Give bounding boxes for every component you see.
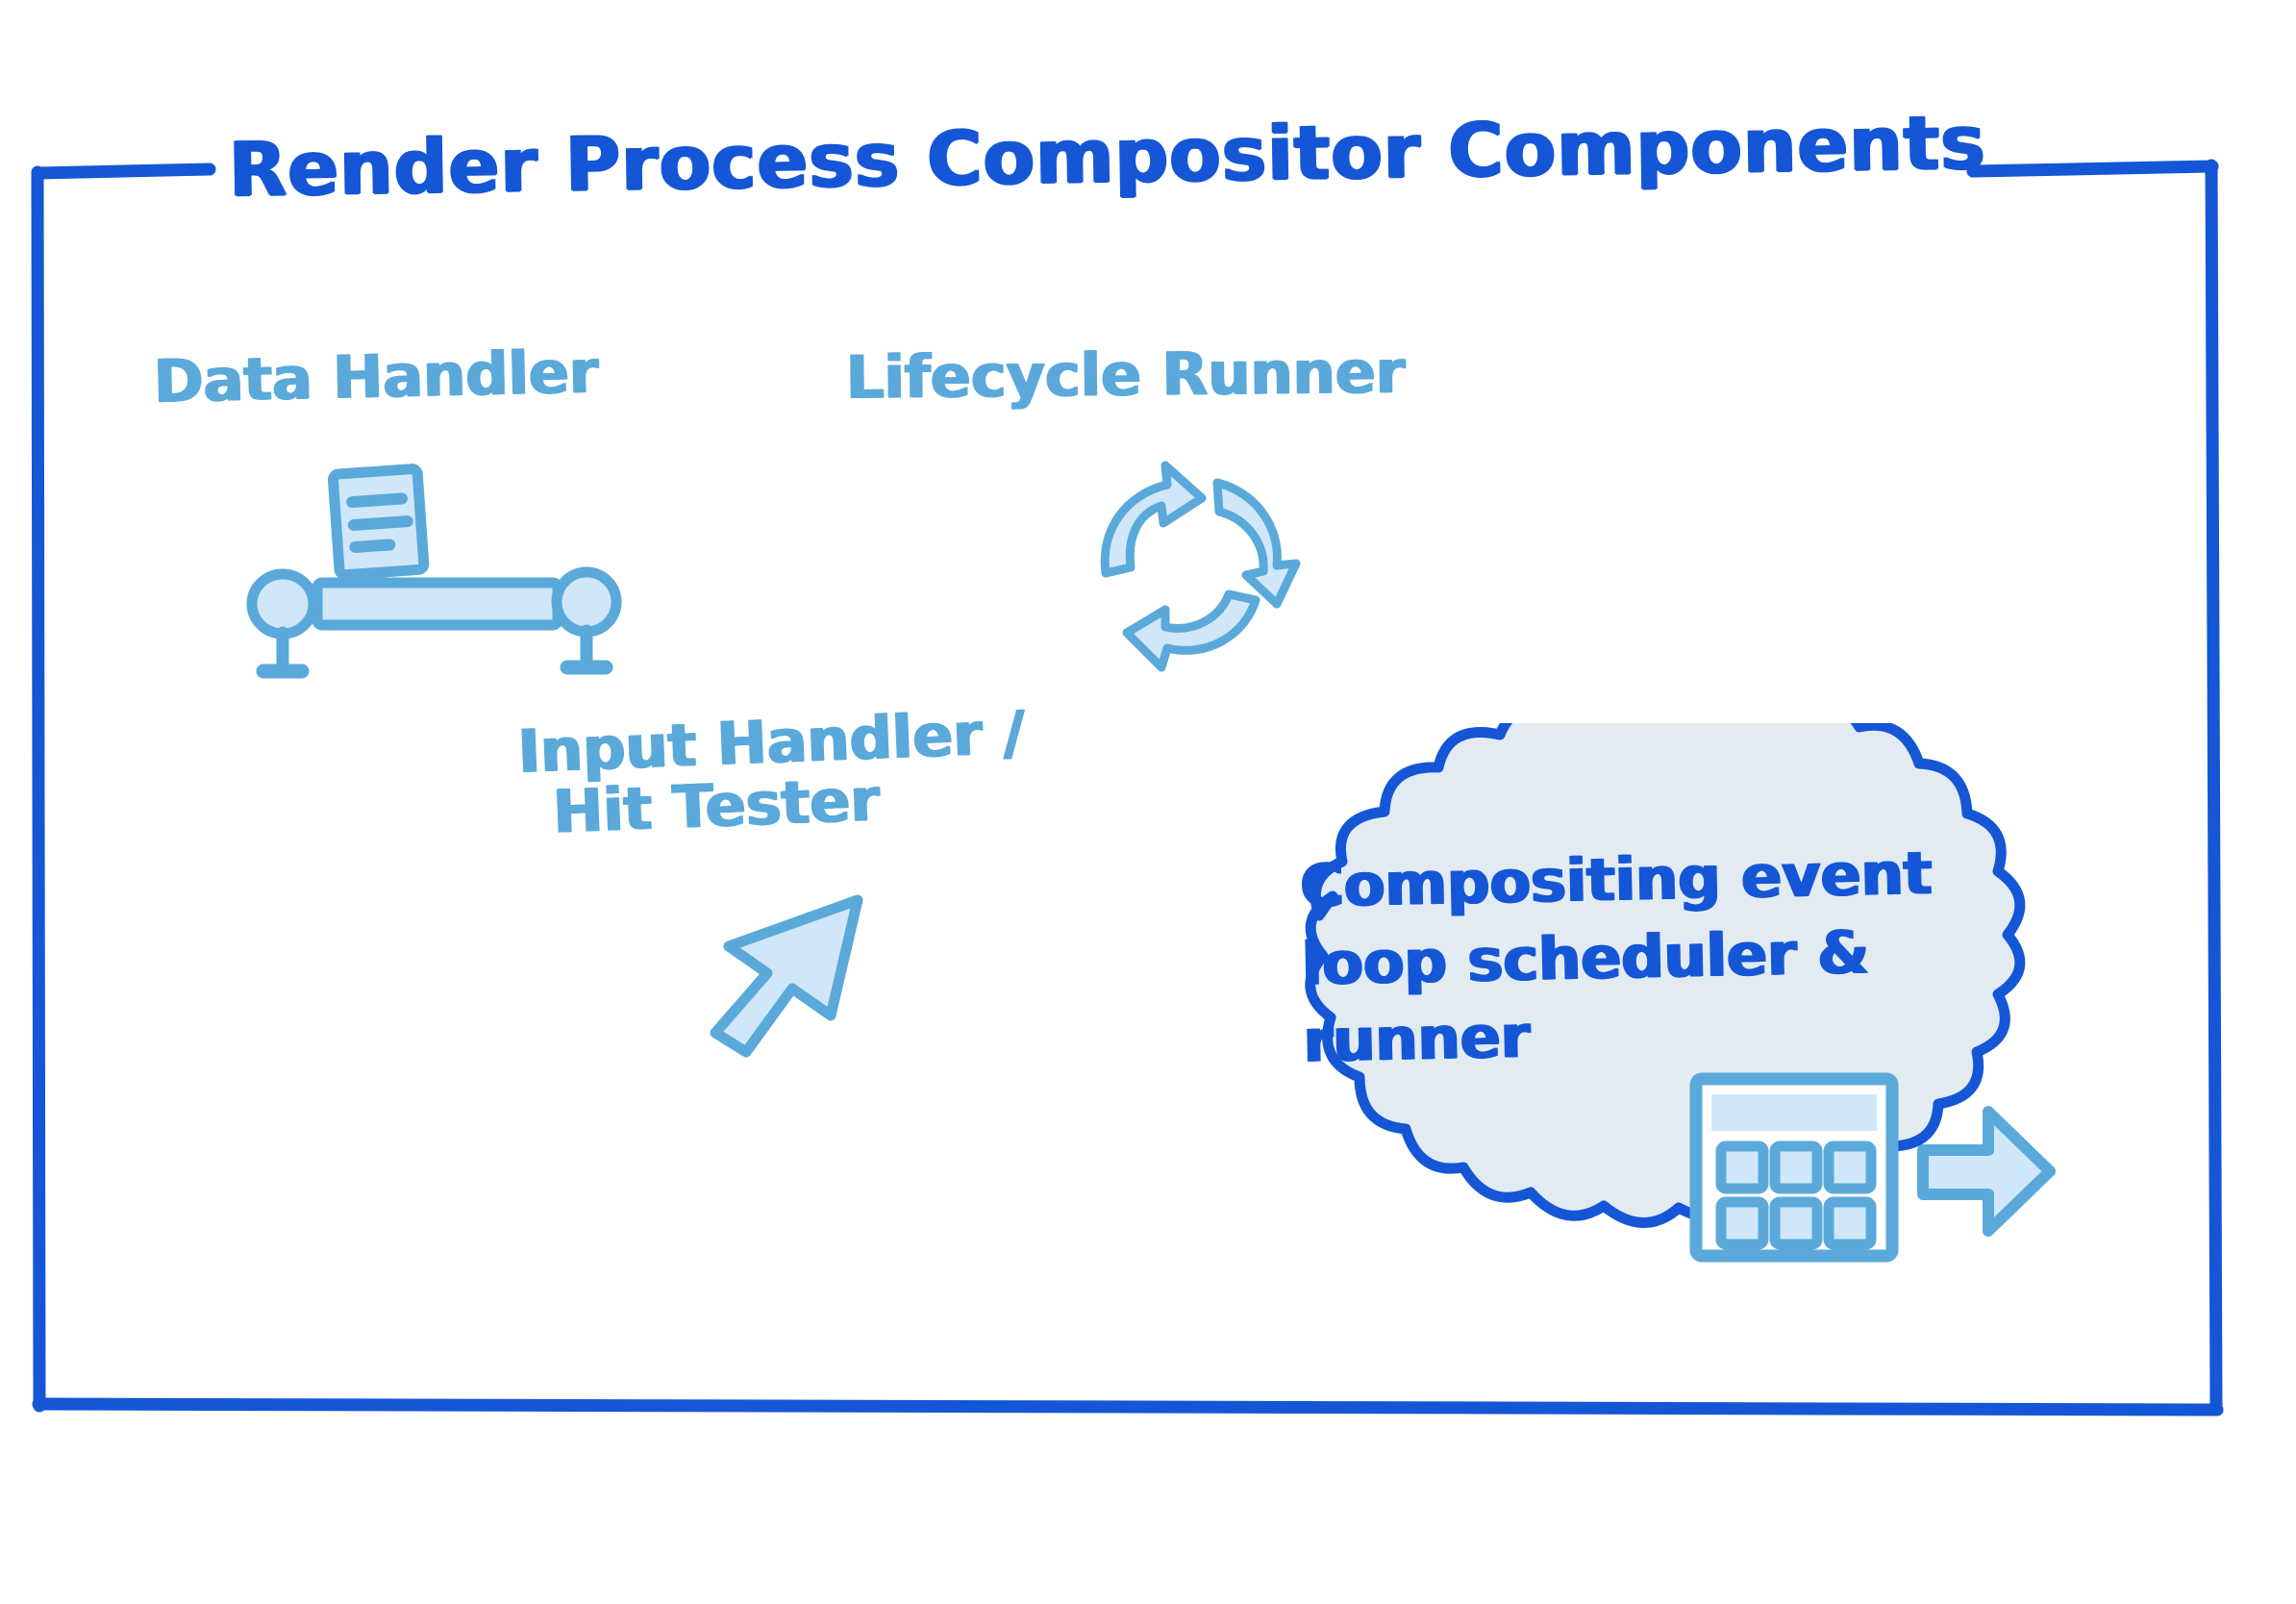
document-on-bench-icon [242, 450, 627, 690]
label-input-handler-line2: Hit Tester [552, 764, 1028, 843]
label-lifecycle-runner: Lifecycle Runner [846, 341, 1406, 408]
label-data-handler: Data Handler [153, 341, 599, 413]
label-input-handler: Input Handler /Hit Tester [517, 702, 1029, 845]
page-title: Render Process Compositor Components [228, 100, 1986, 214]
right-arrow-icon [1923, 1112, 2050, 1231]
compositing-scheduler-cloud: Compositing event loop scheduler & runne… [1175, 723, 2136, 1367]
cloud-text: Compositing event loop scheduler & runne… [1300, 833, 2035, 1081]
recycle-arrows-icon [1067, 460, 1327, 676]
calendar-with-arrow-icon [1683, 1069, 2067, 1271]
calendar-icon [1696, 1079, 1892, 1256]
diagram-canvas: Render Process Compositor Components Dat… [0, 0, 2296, 1604]
cursor-arrow-icon [686, 887, 879, 1060]
